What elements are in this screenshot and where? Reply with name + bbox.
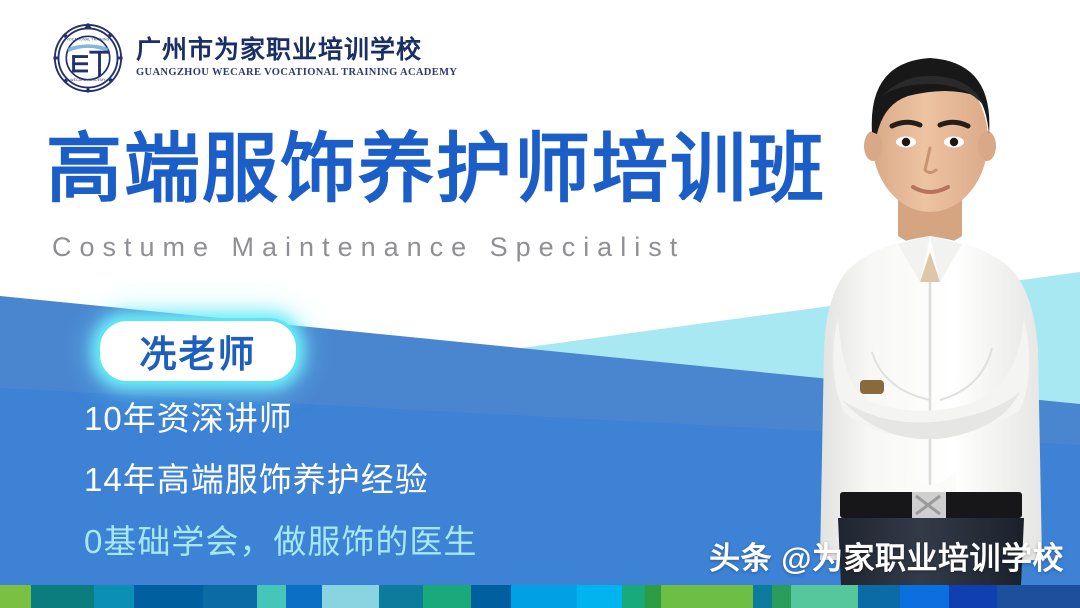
color-bar-segment — [949, 585, 998, 608]
color-bar-segment — [791, 585, 859, 608]
instructor-credentials: 10年资深讲师 14年高端服饰养护经验 0基础学会，做服饰的医生 — [84, 398, 477, 582]
promotional-banner: VOCATIONAL TRAINING WECARE ACADEMY 广州市为家… — [0, 0, 1080, 608]
color-bar-segment — [900, 585, 949, 608]
color-bar-segment — [423, 585, 472, 608]
credential-line: 10年资深讲师 — [84, 398, 477, 439]
instructor-name-label: 冼老师 — [140, 324, 257, 378]
color-bar-segment — [997, 585, 1079, 608]
watermark-label: 头条 @为家职业培训学校 — [709, 533, 1064, 578]
color-bar-segment — [753, 585, 772, 608]
school-seal-emblem-icon: VOCATIONAL TRAINING WECARE ACADEMY — [52, 22, 124, 94]
color-bar-segment — [471, 585, 511, 608]
bottom-color-bar — [0, 585, 1080, 608]
svg-text:WECARE ACADEMY: WECARE ACADEMY — [70, 78, 106, 82]
page-title: 高端服饰养护师培训班 — [46, 132, 826, 208]
color-bar-segment — [622, 585, 645, 608]
instructor-name-badge: 冼老师 — [97, 318, 299, 384]
brand-logo: VOCATIONAL TRAINING WECARE ACADEMY 广州市为家… — [52, 22, 457, 94]
page-subtitle: Costume Maintenance Specialist — [52, 232, 685, 263]
color-bar-segment — [645, 585, 661, 608]
color-bar-segment — [203, 585, 257, 608]
color-bar-segment — [257, 585, 286, 608]
color-bar-segment — [661, 585, 753, 608]
brand-name-en: GUANGZHOU WECARE VOCATIONAL TRAINING ACA… — [136, 68, 457, 79]
credential-line: 14年高端服饰养护经验 — [84, 459, 477, 500]
svg-text:VOCATIONAL TRAINING: VOCATIONAL TRAINING — [67, 38, 110, 42]
color-bar-segment — [94, 585, 134, 608]
color-bar-segment — [379, 585, 422, 608]
color-bar-segment — [134, 585, 203, 608]
color-bar-segment — [511, 585, 577, 608]
color-bar-segment — [31, 585, 94, 608]
color-bar-segment — [286, 585, 322, 608]
color-bar-segment — [0, 585, 31, 608]
credential-line-highlight: 0基础学会，做服饰的医生 — [84, 521, 477, 562]
color-bar-segment — [772, 585, 791, 608]
color-bar-segment — [577, 585, 622, 608]
color-bar-segment — [858, 585, 900, 608]
brand-name-cn: 广州市为家职业培训学校 — [136, 38, 457, 63]
color-bar-segment — [322, 585, 379, 608]
